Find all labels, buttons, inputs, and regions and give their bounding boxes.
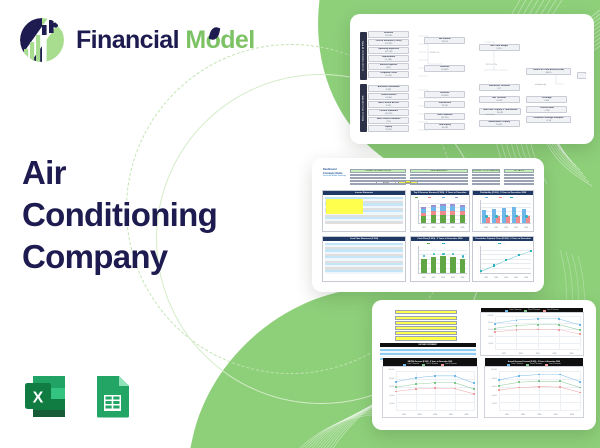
chart-x-label: 2024	[501, 227, 511, 229]
chart-bar-segment	[440, 206, 445, 211]
report-legend-swatch	[505, 310, 508, 311]
tree-node: Equity20,639	[368, 125, 409, 132]
tree-node-value: 124,430	[441, 69, 448, 72]
tree-node: A/R Turnover+13.85	[479, 96, 520, 103]
report-y-label: 80,000	[384, 379, 394, 380]
report-marker	[516, 329, 518, 331]
report-legend-item: Case 3 Scenario	[545, 364, 561, 365]
report-x-label: 2024	[529, 353, 546, 355]
chart-x-label: 2026	[521, 227, 531, 229]
tree-node: Accounts Receivable8,982	[368, 85, 409, 92]
chart-legend-swatch	[485, 197, 488, 198]
report-table: INCOME STATEMENT	[380, 310, 476, 362]
tree-node-value: 124,430	[385, 35, 392, 38]
report-x-label: 2023	[512, 353, 529, 355]
tree-node-value: 20,639	[496, 124, 502, 127]
report-x-label: 2026	[563, 353, 580, 355]
report-y-label: 100,000	[482, 316, 493, 317]
chart-bar-segment	[460, 215, 465, 223]
chart-plot-area: 20222023202420252026	[418, 246, 467, 275]
chart-legend: Cash FlowNet Cash	[413, 242, 467, 245]
report-x-label: 2025	[548, 414, 564, 416]
report-y-label: 20,000	[384, 404, 394, 405]
chart-bar-segment	[421, 207, 426, 209]
tree-node: Operating Expenses(37,734)	[368, 47, 409, 54]
chart-legend-item: Costs	[499, 197, 507, 198]
report-marker	[454, 388, 456, 390]
report-marker	[516, 320, 518, 322]
report-legend-swatch	[526, 364, 529, 365]
report-y-label: 60,000	[482, 330, 493, 331]
report-chart-legend: Case 1 ScenarioCase 2 ScenarioCase 3 Sce…	[383, 363, 477, 367]
chart-legend-label: Stream 2	[432, 197, 438, 198]
report-x-label: 2026	[564, 414, 580, 416]
report-legend-swatch	[403, 364, 406, 365]
chart-gridline	[481, 207, 531, 208]
chart-bar-segment	[431, 207, 436, 211]
dashboard-panel-3[interactable]: Cash Flow Statement ($ 000)	[322, 236, 406, 282]
chart-marker	[530, 250, 532, 252]
report-marker	[518, 375, 520, 377]
tree-node: Revenue124,430	[424, 91, 465, 98]
chart-gridline	[481, 203, 531, 204]
report-marker	[415, 377, 417, 379]
chart-bar-segment	[450, 206, 455, 211]
dashboard-topbox-row	[410, 183, 468, 186]
chart-x-label: 2025	[511, 227, 521, 229]
dashboard-panel-caption: Top 5 Revenue Streams ($ 000) - 5 Years …	[411, 191, 469, 195]
chart-legend-label: Payback	[502, 243, 508, 244]
page-title-line-3: Company	[22, 236, 282, 278]
tree-node: Return on Total Assets (ROA)86.6%	[526, 68, 570, 75]
chart-legend-item: Stream 3	[442, 197, 452, 198]
report-table-highlight-row	[395, 326, 456, 330]
tree-node-value: 23.1%	[496, 48, 502, 51]
dashboard-body: DashboardCompany Name Financial Model Su…	[320, 166, 536, 284]
report-legend-item: Case 2 Scenario	[422, 364, 438, 365]
report-gridline	[396, 410, 474, 411]
report-legend-item: Case 3 Scenario	[543, 310, 559, 311]
report-x-label: 2023	[412, 414, 428, 416]
tree-node: Leverage1.601	[526, 96, 567, 103]
report-marker	[537, 324, 539, 326]
tree-node-value: 33,035	[442, 105, 448, 108]
tree-node-value: (37,734)	[385, 51, 392, 54]
tree-formula: 2,125 / 6 / 2x	[486, 64, 498, 66]
report-marker	[538, 380, 540, 382]
dashboard-panel-caption: Profitability ($ 000) - 5 Years to Decem…	[473, 191, 533, 195]
dashboard-subtitle: Financial Model Summary	[323, 175, 346, 177]
report-y-label: 60,000	[384, 387, 394, 388]
dashboard-topbox-header-3: KEY RATIOS	[504, 169, 534, 173]
report-marker	[559, 374, 561, 376]
table-row	[325, 221, 404, 223]
chart-marker	[495, 215, 497, 217]
report-marker	[558, 329, 560, 331]
report-legend-item: Case 1 Scenario	[505, 310, 521, 311]
report-marker	[579, 329, 581, 331]
chart-legend-swatch	[427, 243, 430, 244]
report-plot-area: 20222023202420252026	[396, 371, 474, 410]
report-marker	[494, 323, 496, 325]
svg-text:X: X	[33, 390, 44, 407]
chart-legend-swatch	[442, 197, 445, 198]
report-marker	[518, 387, 520, 389]
report-x-label: 2022	[499, 414, 515, 416]
tree-node-value: 1.601	[544, 100, 549, 103]
dupont-ratio-tree-screenshot: Income Statement ($ 000) Balance Sheet (…	[358, 22, 586, 136]
chart-legend-swatch	[498, 243, 501, 244]
report-table-highlight-row	[395, 316, 456, 320]
report-y-label: 80,000	[486, 379, 497, 380]
report-marker	[498, 385, 500, 387]
chart-legend: Payback	[475, 242, 531, 245]
tree-formula: multiplied by	[535, 84, 546, 86]
dashboard-panel-1[interactable]: Top 5 Revenue Streams ($ 000) - 5 Years …	[410, 190, 470, 232]
report-y-label: 40,000	[486, 396, 497, 397]
chart-x-label: 2024	[438, 277, 448, 279]
report-table-highlight-row	[395, 336, 456, 340]
report-marker	[434, 387, 436, 389]
chart-marker	[462, 255, 464, 257]
report-legend-swatch	[545, 364, 548, 365]
brand-name-part1: Financial	[76, 26, 179, 54]
chart-x-label: 2022	[481, 227, 491, 229]
report-marker	[454, 382, 456, 384]
tree-node-value: 124,430	[441, 95, 448, 98]
chart-legend-item: Stream 4	[455, 197, 465, 198]
tree-node: Net Profit Margin23.1%	[479, 44, 520, 51]
report-x-label: 2024	[531, 414, 547, 416]
report-marker	[559, 380, 561, 382]
chart-x-label: 2026	[521, 277, 531, 279]
report-chart-panel-2[interactable]: Annual Revenue Forecast ($ 000) - 5 Year…	[484, 366, 584, 418]
chart-x-label: 2023	[491, 277, 501, 279]
tree-node: Net Income28,615	[424, 37, 465, 44]
chart-plot-area: 20222023202420252026	[418, 200, 467, 225]
tree-node-value: 33,035	[497, 112, 503, 115]
tree-node: Return on Equity (ROE)138.6%	[577, 72, 586, 79]
report-gridline	[495, 349, 580, 350]
chart-bar	[431, 257, 437, 274]
excel-icon[interactable]: X	[20, 370, 72, 422]
report-marker	[538, 374, 540, 376]
chart-bar-segment	[421, 209, 426, 213]
dashboard-topbox-row	[472, 183, 500, 186]
report-marker	[473, 393, 475, 395]
chart-bar	[440, 256, 446, 273]
report-legend-item: Case 2 Scenario	[526, 364, 542, 365]
tree-node: Non-Current Assets8,951	[368, 101, 409, 108]
tree-node-value: 8,982	[386, 89, 391, 92]
chart-legend: Stream 1Stream 2Stream 3Stream 4	[413, 196, 467, 199]
report-marker	[473, 388, 475, 390]
report-gridline	[499, 410, 580, 411]
report-marker	[559, 386, 561, 388]
chart-legend-item: Payback	[498, 243, 508, 244]
chart-gridline	[419, 250, 467, 251]
file-format-icons: X	[20, 370, 138, 422]
chart-legend-swatch	[442, 243, 445, 244]
report-plot-area: 20222023202420252026	[495, 316, 580, 349]
dashboard-panel-2[interactable]: Profitability ($ 000) - 5 Years to Decem…	[472, 190, 534, 232]
tree-node-value: 24,084	[386, 97, 392, 100]
chart-legend-swatch	[455, 197, 458, 198]
chart-legend-item: Cash Flow	[427, 243, 439, 244]
dashboard-topbox-row	[504, 183, 534, 186]
tree-node: Total Asset Turnover3.77	[479, 84, 520, 91]
report-marker	[579, 381, 581, 383]
dashboard-topbox-row	[350, 183, 406, 186]
chart-x-label: 2025	[511, 277, 521, 279]
chart-bar-segment	[431, 211, 436, 215]
chart-legend-swatch	[428, 197, 431, 198]
chart-bar	[421, 259, 427, 273]
report-legend-item: Case 1 Scenario	[403, 364, 419, 365]
tree-node-value: (47,285)	[385, 43, 392, 46]
tree-formula: 25,615 / 2x	[429, 52, 439, 54]
report-x-label: 2025	[546, 353, 563, 355]
tree-node: Revenue124,430	[368, 31, 409, 38]
tree-node-value: +1.60	[546, 120, 551, 123]
chart-marker	[442, 253, 444, 255]
report-legend-swatch	[441, 364, 444, 365]
chart-bar-segment	[421, 213, 426, 216]
chart-x-label: 2024	[438, 227, 448, 229]
report-marker	[498, 389, 500, 391]
table-row-highlight	[326, 212, 363, 214]
chart-legend-swatch	[415, 197, 418, 198]
report-legend-label: Case 1 Scenario	[511, 364, 523, 365]
report-marker	[579, 324, 581, 326]
brand-logo[interactable]: Financial Model	[18, 16, 255, 64]
report-y-label: 100,000	[384, 370, 394, 371]
report-body: INCOME STATEMENTAnnual Revenue Forecast …	[380, 308, 588, 422]
report-marker	[558, 324, 560, 326]
report-legend-swatch	[422, 364, 425, 365]
report-marker	[395, 381, 397, 383]
chart-x-label: 2025	[448, 277, 458, 279]
report-marker	[434, 375, 436, 377]
chart-legend-label: Net Cash	[446, 243, 453, 244]
report-legend-label: Case 2 Scenario	[528, 310, 540, 311]
tree-node: Corporate Taxes(9,123)	[368, 71, 409, 78]
report-legend-label: Case 2 Scenario	[426, 364, 438, 365]
dupont-tree-diagram: Income Statement ($ 000) Balance Sheet (…	[358, 22, 586, 136]
tree-node: Non-Current Liabilities(125)	[368, 117, 409, 124]
chart-legend-item: Stream 1	[415, 197, 425, 198]
page-title: Air Conditioning Company	[22, 152, 282, 278]
chart-x-label: 2023	[429, 227, 439, 229]
chart-marker	[505, 259, 507, 261]
page-title-line-2: Conditioning	[22, 194, 282, 236]
report-legend-item: Case 1 Scenario	[507, 364, 523, 365]
chart-legend-label: Margin %	[514, 197, 521, 198]
financial-statements-report-screenshot: INCOME STATEMENTAnnual Revenue Forecast …	[380, 308, 588, 422]
chart-legend-item: Stream 2	[428, 197, 438, 198]
report-y-label: 20,000	[482, 344, 493, 345]
report-line-series	[495, 316, 580, 349]
report-marker	[494, 328, 496, 330]
dashboard-topbox-header-2: REVENUE, COSTS & EARNINGS	[472, 169, 500, 173]
report-marker	[498, 379, 500, 381]
dashboard-panel-caption: Income Statement	[323, 191, 405, 195]
chart-bar-segment	[460, 211, 465, 215]
chart-bar	[450, 257, 456, 274]
tree-node: Revenue124,430	[424, 65, 465, 72]
dashboard-title: DashboardCompany Name	[323, 168, 343, 175]
report-vgridline	[580, 371, 581, 410]
report-table-header: INCOME STATEMENT	[380, 343, 476, 348]
tree-node: Shareholder's Equity20,639	[479, 120, 520, 127]
report-marker	[473, 382, 475, 384]
tree-node: Current Ratio+2.38	[526, 106, 567, 113]
report-legend-label: Case 3 Scenario	[549, 364, 561, 365]
tree-node-value: 20,639	[386, 129, 392, 132]
report-legend-label: Case 3 Scenario	[445, 364, 457, 365]
dashboard-panel-caption: Cumulative Payback Chart ($ 000) - 5 Yea…	[473, 237, 533, 241]
report-line-series	[499, 371, 580, 410]
chart-legend-item: Margin %	[510, 197, 521, 198]
report-marker	[415, 383, 417, 385]
chart-marker	[493, 264, 495, 266]
report-line-series	[396, 371, 474, 410]
tree-node-value: (125)	[386, 121, 391, 124]
report-vgridline	[474, 371, 475, 410]
chart-legend-item: Revenue	[485, 197, 495, 198]
chart-bar-segment	[440, 211, 445, 215]
tree-node: Current Assets24,084	[368, 93, 409, 100]
chart-bar-segment	[440, 215, 445, 224]
chart-bar-segment	[460, 205, 465, 207]
tree-node-value: 3.77	[497, 88, 501, 91]
page-title-line-1: Air	[22, 152, 282, 194]
chart-marker	[485, 215, 487, 217]
chart-bar-segment	[450, 211, 455, 215]
chart-bar-segment	[450, 215, 455, 224]
report-legend-label: Case 3 Scenario	[547, 310, 559, 311]
chart-x-label: 2026	[458, 277, 468, 279]
tree-node-value: (9,123)	[385, 75, 391, 78]
report-marker	[558, 318, 560, 320]
report-marker	[415, 388, 417, 390]
chart-legend-label: Stream 3	[446, 197, 452, 198]
tree-node: Total Assets33,035	[424, 101, 465, 108]
report-marker	[516, 325, 518, 327]
financial-dashboard-card[interactable]: DashboardCompany Name Financial Model Su…	[312, 158, 544, 292]
report-x-label: 2023	[515, 414, 531, 416]
report-y-label: 60,000	[486, 387, 497, 388]
report-y-label: 40,000	[482, 337, 493, 338]
report-legend-item: Case 2 Scenario	[524, 310, 540, 311]
tree-node-value: +2.38	[544, 110, 549, 113]
chart-marker	[480, 270, 482, 272]
chart-bar-segment	[431, 205, 436, 207]
report-legend-label: Case 1 Scenario	[509, 310, 521, 311]
circle-bar-chart-logo-icon	[18, 16, 66, 64]
report-marker	[395, 391, 397, 393]
chart-legend-label: Revenue	[489, 197, 495, 198]
report-marker	[579, 392, 581, 394]
chart-marker	[518, 254, 520, 256]
brand-name-part2: Model	[185, 26, 254, 54]
chart-legend-label: Stream 1	[419, 197, 425, 198]
chart-x-label: 2026	[458, 227, 468, 229]
tree-node-value: (1,186)	[385, 59, 391, 62]
dashboard-panel-4[interactable]: Cash Flow ($ 000) - 5 Years to December …	[410, 236, 470, 282]
chart-legend: RevenueCostsMargin %	[475, 196, 531, 199]
table-row	[325, 272, 404, 274]
tree-node: Total Equity20,639	[424, 123, 465, 130]
chart-x-label: 2022	[419, 277, 429, 279]
report-plot-area: 20222023202420252026	[499, 371, 580, 410]
report-marker	[434, 382, 436, 384]
tree-node: Current Liabilities(10,120)	[368, 109, 409, 116]
tree-node: Interest Expense(627)	[368, 63, 409, 70]
report-y-label: 80,000	[482, 323, 493, 324]
tree-node: Total Liabilities(10,245)	[424, 113, 465, 120]
chart-x-label: 2023	[491, 227, 501, 229]
report-legend-label: Case 1 Scenario	[407, 364, 419, 365]
report-marker	[538, 386, 540, 388]
chart-legend-item: Net Cash	[442, 243, 453, 244]
report-legend-swatch	[507, 364, 510, 365]
chart-x-label: 2023	[429, 277, 439, 279]
chart-bar-segment	[450, 204, 455, 206]
chart-x-label: 2022	[419, 227, 429, 229]
chart-legend-label: Stream 4	[459, 197, 465, 198]
poster-canvas: Financial Model Air Conditioning Company…	[0, 0, 600, 448]
chart-bar-segment	[421, 216, 426, 223]
report-marker	[579, 387, 581, 389]
financial-report-card[interactable]: INCOME STATEMENTAnnual Revenue Forecast …	[372, 300, 596, 430]
tree-node: Financial Leverage multiplier+1.60	[526, 116, 570, 123]
tree-formula: divided by	[486, 114, 495, 116]
report-y-label: 20,000	[486, 404, 497, 405]
dashboard-panel-caption: Cash Flow ($ 000) - 5 Years to December …	[411, 237, 469, 241]
dashboard-panel-0[interactable]: Income Statement	[322, 190, 406, 232]
tree-node-value: +13.85	[496, 100, 502, 103]
report-legend-item: Case 3 Scenario	[441, 364, 457, 365]
chart-plot-area: 20222023202420252026	[480, 246, 531, 275]
report-marker	[518, 381, 520, 383]
dashboard-topbox-header-0: COMPANY INFORMATION ($ 000)	[350, 169, 406, 173]
report-chart-panel-1[interactable]: EBITDA Forecast ($ 000) - 5 Years to Dec…	[382, 366, 478, 418]
tree-node-value: 20,639	[442, 127, 448, 130]
report-chart-legend: Case 1 ScenarioCase 2 ScenarioCase 3 Sce…	[485, 363, 583, 367]
report-legend-swatch	[524, 310, 527, 311]
chart-bar	[486, 217, 490, 223]
report-x-label: 2022	[396, 414, 412, 416]
report-chart-panel-0[interactable]: Annual Revenue Forecast ($ 000) - 5 Year…	[480, 312, 584, 356]
chart-bar-segment	[440, 204, 445, 206]
report-chart-legend: Case 1 ScenarioCase 2 ScenarioCase 3 Sce…	[481, 309, 583, 313]
tree-node-value: (10,245)	[441, 117, 448, 120]
report-marker	[454, 375, 456, 377]
chart-bar-segment	[431, 215, 436, 223]
report-marker	[494, 331, 496, 333]
report-marker	[395, 386, 397, 388]
dashboard-panel-5[interactable]: Cumulative Payback Chart ($ 000) - 5 Yea…	[472, 236, 534, 282]
chart-plot-area: 20222023202420252026	[480, 200, 531, 225]
chart-legend-swatch	[499, 197, 502, 198]
google-sheets-icon[interactable]	[86, 370, 138, 422]
dupont-ratio-tree-card[interactable]: Income Statement ($ 000) Balance Sheet (…	[350, 14, 594, 144]
report-table-highlight-row	[395, 331, 456, 335]
chart-x-label: 2025	[448, 227, 458, 229]
tree-node: Cost of Revenue (COGS)(47,285)	[368, 39, 409, 46]
chart-x-label: 2022	[481, 277, 491, 279]
